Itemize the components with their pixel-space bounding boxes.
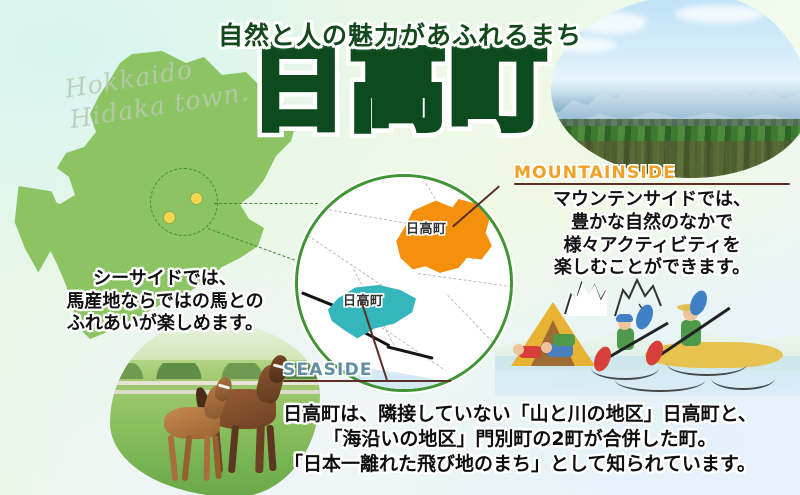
seaside-body-line: ふれあいが楽しめます。 [40, 313, 290, 336]
line-art-mountain [563, 272, 607, 316]
page-subtitle: 自然と人の魅力があふれるまち [0, 16, 800, 52]
footer-line: 日高町は、隣接していない「山と川の地区」日高町と、 [250, 402, 790, 427]
footer-line: 「海沿いの地区」門別町の2町が合併した町。 [250, 427, 790, 452]
child-figure [553, 334, 575, 346]
seaside-heading: SEASIDE [283, 360, 451, 380]
activity-illustration [495, 268, 800, 396]
paddler-helmet [616, 314, 633, 322]
child-head [541, 342, 552, 353]
seaside-body-line: 馬産地ならではの馬との [40, 291, 290, 314]
mountainside-underline [514, 183, 790, 185]
mountainside-body-line: 様々アクティビティを [514, 235, 790, 258]
poster-root: 日高町 日高町 Hokkaido Hidaka town. 日高町 日高町 自然… [0, 0, 800, 495]
line-art-mountain-icon [563, 272, 607, 316]
mountainside-caption-block: MOUNTAINSIDE マウンテンサイドでは、 豊かな自然のなかで 様々アクテ… [514, 163, 790, 280]
inset-label-mountainside: 日高町 [406, 218, 447, 237]
location-dot-mountainside [191, 193, 202, 204]
mountainside-body: マウンテンサイドでは、 豊かな自然のなかで 様々アクティビティを 楽しむことがで… [514, 189, 790, 280]
seaside-caption-block: シーサイドでは、 馬産地ならではの馬との ふれあいが楽しめます。 [40, 268, 290, 336]
seaside-underline [283, 380, 451, 382]
footer-description: 日高町は、隣接していない「山と川の地区」日高町と、 「海沿いの地区」門別町の2町… [250, 402, 790, 477]
foal-leg [204, 435, 211, 481]
child-head [513, 344, 524, 355]
mountainside-heading: MOUNTAINSIDE [514, 163, 790, 183]
seaside-body: シーサイドでは、 馬産地ならではの馬との ふれあいが楽しめます。 [40, 268, 290, 336]
location-dot-seaside [164, 212, 175, 223]
mountainside-body-line: 豊かな自然のなかで [514, 212, 790, 235]
hidaka-highlight-circle [150, 168, 218, 236]
footer-line: 「日本一離れた飛び地のまち」として知られています。 [250, 452, 790, 477]
mountainside-body-line: マウンテンサイドでは、 [514, 189, 790, 212]
seaside-body-line: シーサイドでは、 [40, 268, 290, 291]
page-title: 日高町 [0, 38, 800, 139]
seaside-heading-block: SEASIDE [283, 360, 451, 382]
